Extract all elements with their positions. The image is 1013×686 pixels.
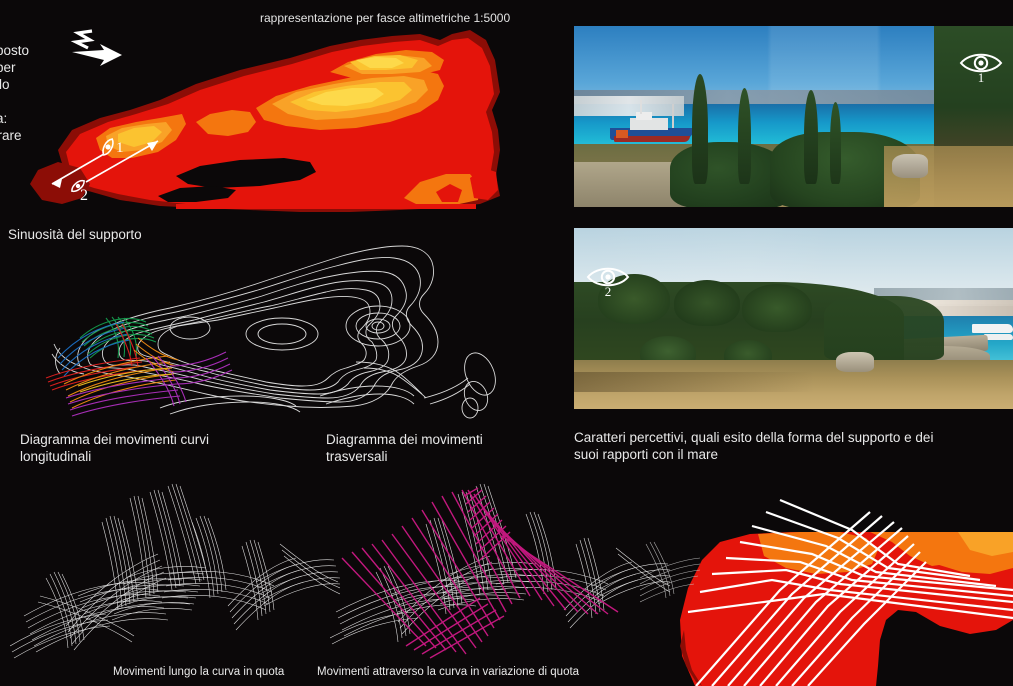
photo2-viewpoint-number: 2 [585,284,631,300]
transversal-lines-magenta [342,488,618,658]
photo1-viewpoint-eye-icon: 1 [958,50,1004,84]
caption-movimenti-attraverso-curva: Movimenti attraverso la curva in variazi… [317,664,579,681]
section-label-diagramma-trasversali: Diagramma dei movimenti trasversali [326,431,566,465]
section-label-caratteri-percettivi: Caratteri percettivi, quali esito della … [574,429,1004,463]
diagram-movimenti-trasversali [330,478,670,664]
photo-viewpoint-1: 1 [574,26,1013,207]
map-viewpoint-1-label: 1 [116,140,124,156]
map-viewpoint-2-label: 2 [80,187,88,204]
photo2-boat-1 [972,324,1013,333]
caption-movimenti-lungo-curva: Movimenti lungo la curva in quota [113,664,284,681]
photo2-pine-2 [674,280,740,326]
poster-canvas: rappresentazione per fasce altimetriche … [0,0,1013,686]
north-arrow-icon [72,31,122,66]
photo2-boat-2 [984,334,1013,340]
bottom-heat-bands [680,532,1013,686]
photo1-cypress-2 [738,88,751,184]
photo2-viewpoint-eye-icon: 2 [585,264,631,298]
photo1-cargo-ship [610,110,694,144]
diagram-movimenti-longitudinali [10,478,340,664]
photo1-cypress-3 [804,90,818,184]
bottom-right-heatmap-with-lines [640,470,1013,686]
photo2-meadow-shadow [574,372,814,392]
photo2-pine-3 [742,284,812,332]
altimetric-heatmap: 1 2 [0,0,560,230]
photo2-boulder [836,352,874,372]
photo2-forest-right [824,296,944,360]
photo1-viewpoint-number: 1 [958,70,1004,86]
flow-bundle [46,317,232,416]
contour-map [20,238,520,424]
photo1-boulder [892,154,928,178]
section-label-diagramma-longitudinali: Diagramma dei movimenti curvi longitudin… [20,431,320,465]
photo-viewpoint-2: 2 [574,228,1013,409]
photo1-cypress-1 [692,74,708,184]
photo1-cypress-4 [830,102,841,184]
